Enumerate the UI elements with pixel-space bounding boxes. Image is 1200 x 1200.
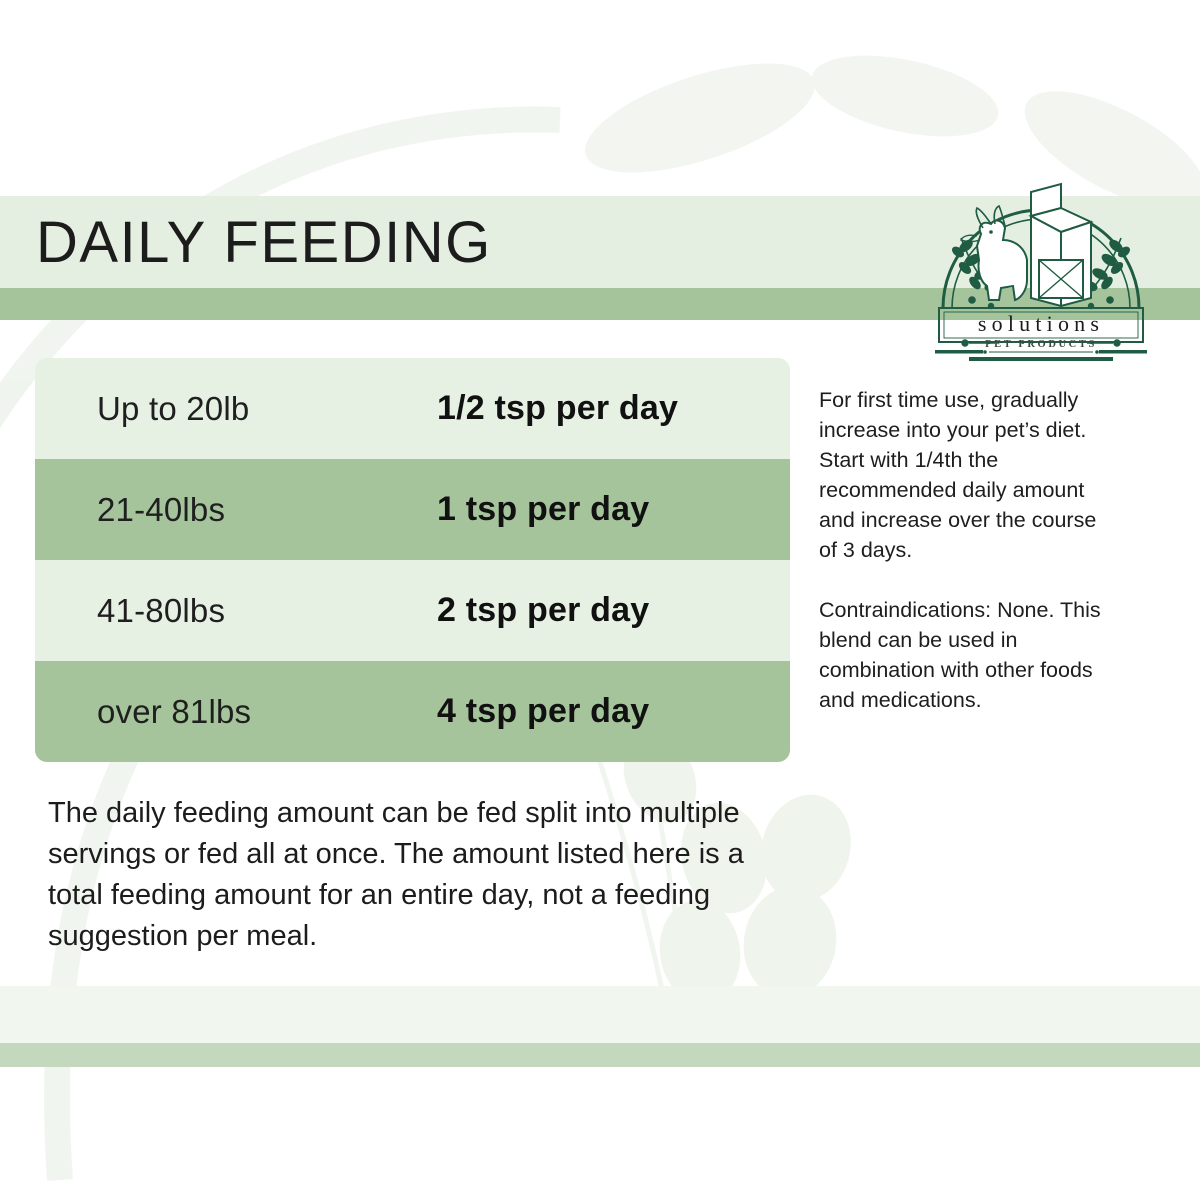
row-weight: 21-40lbs (97, 491, 437, 529)
daily-feeding-card: DAILY FEEDING (0, 0, 1200, 1200)
footer-band-light (0, 986, 1200, 1043)
side-note-contraindications: Contraindications: None. This blend can … (819, 595, 1119, 715)
bottom-note: The daily feeding amount can be fed spli… (48, 793, 768, 957)
svg-text:PET PRODUCTS: PET PRODUCTS (985, 339, 1097, 350)
feeding-table: Up to 20lb 1/2 tsp per day 21-40lbs 1 ts… (35, 358, 790, 762)
row-weight: over 81lbs (97, 693, 437, 731)
row-weight: Up to 20lb (97, 390, 437, 428)
table-row: over 81lbs 4 tsp per day (35, 661, 790, 762)
svg-text:solutions: solutions (978, 311, 1104, 336)
table-row: 41-80lbs 2 tsp per day (35, 560, 790, 661)
page-title: DAILY FEEDING (36, 205, 492, 281)
row-amount: 1/2 tsp per day (437, 389, 678, 428)
row-amount: 1 tsp per day (437, 490, 649, 529)
row-amount: 4 tsp per day (437, 692, 649, 731)
table-row: 21-40lbs 1 tsp per day (35, 459, 790, 560)
brand-logo: solutions PET PRODUCTS (925, 148, 1157, 363)
row-weight: 41-80lbs (97, 592, 437, 630)
table-row: Up to 20lb 1/2 tsp per day (35, 358, 790, 459)
side-notes: For first time use, gradually increase i… (819, 385, 1119, 715)
row-amount: 2 tsp per day (437, 591, 649, 630)
footer-band-accent (0, 1043, 1200, 1067)
side-note-first-time-use: For first time use, gradually increase i… (819, 385, 1119, 565)
